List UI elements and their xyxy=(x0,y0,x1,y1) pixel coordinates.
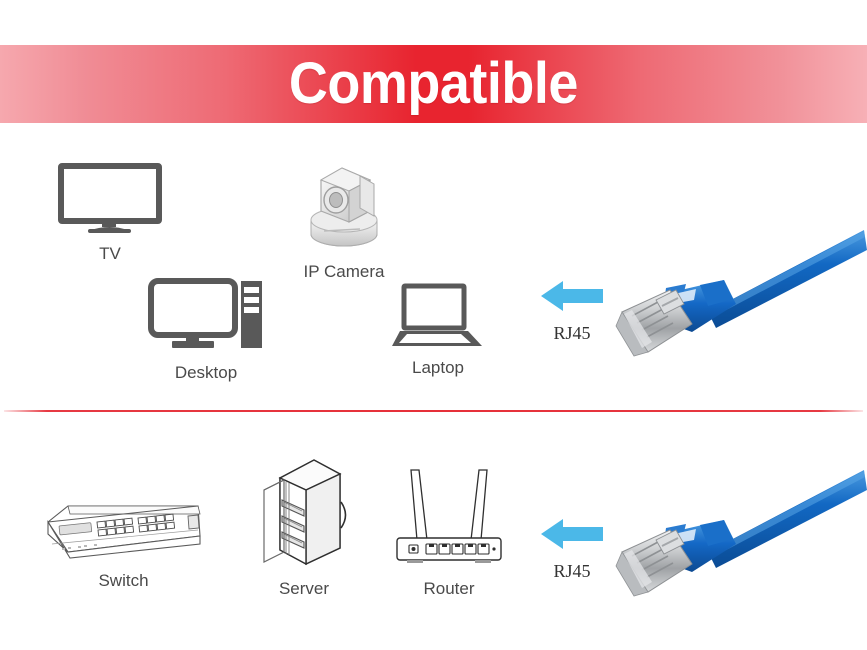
device-label: Router xyxy=(423,579,474,599)
device-server: Server xyxy=(258,452,350,599)
device-label: Laptop xyxy=(412,358,464,378)
device-label: TV xyxy=(99,244,121,264)
rj45-connector-bottom: RJ45 xyxy=(541,516,603,582)
page-title: Compatible xyxy=(289,55,578,113)
rj45-label: RJ45 xyxy=(553,323,590,344)
rj45-cable-icon xyxy=(612,228,867,373)
tv-icon xyxy=(58,163,162,240)
left-arrow-icon xyxy=(541,516,603,557)
router-icon xyxy=(393,460,505,575)
device-laptop: Laptop xyxy=(392,283,484,378)
device-label: Switch xyxy=(98,571,148,591)
server-icon xyxy=(258,452,350,575)
ip-camera-icon xyxy=(294,158,394,258)
switch-icon xyxy=(42,500,205,567)
device-ip-camera: IP Camera xyxy=(294,158,394,282)
header-banner: Compatible xyxy=(0,45,867,123)
device-router: Router xyxy=(393,460,505,599)
device-desktop: Desktop xyxy=(148,278,264,383)
section-divider xyxy=(4,410,863,412)
device-label: IP Camera xyxy=(304,262,385,282)
device-label: Desktop xyxy=(175,363,237,383)
rj45-label: RJ45 xyxy=(553,561,590,582)
desktop-icon xyxy=(148,278,264,359)
left-arrow-icon xyxy=(541,278,603,319)
laptop-icon xyxy=(392,283,484,354)
device-switch: Switch xyxy=(42,500,205,591)
rj45-connector-top: RJ45 xyxy=(541,278,603,344)
rj45-cable-icon xyxy=(612,468,867,613)
device-tv: TV xyxy=(58,163,162,264)
device-label: Server xyxy=(279,579,329,599)
